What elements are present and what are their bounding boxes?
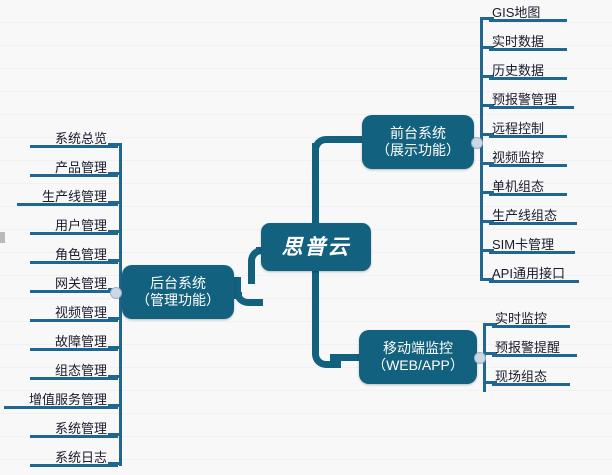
branch-node-front-system[interactable]: 前台系统 （展示功能） <box>362 115 474 169</box>
mindmap-canvas: 思普云 前台系统 （展示功能） 后台系统 （管理功能） 移动端监控 （WEB/A… <box>0 0 612 475</box>
leaf-label[interactable]: 故障管理 <box>27 331 107 350</box>
leaf-label[interactable]: 产品管理 <box>27 157 107 176</box>
leaf-label[interactable]: 增值服务管理 <box>1 389 107 408</box>
leaf-label[interactable]: 系统管理 <box>27 418 107 437</box>
leaf-label[interactable]: 组态管理 <box>27 360 107 379</box>
leaf-label[interactable]: 实时监控 <box>495 308 547 327</box>
leaf-label[interactable]: 用户管理 <box>27 215 107 234</box>
branch-title-line2: （展示功能） <box>376 142 460 160</box>
connector-center-to-front-horizontal <box>330 136 366 143</box>
branch-title-line2: （管理功能） <box>136 292 220 310</box>
center-node[interactable]: 思普云 <box>261 223 371 271</box>
leaf-label[interactable]: 角色管理 <box>27 244 107 263</box>
leaf-label[interactable]: API通用接口 <box>492 263 565 282</box>
leaf-label[interactable]: 现场组态 <box>495 366 547 385</box>
front-branch-spine <box>480 17 483 280</box>
connector-knob-back <box>110 287 122 299</box>
leaf-label[interactable]: 系统日志 <box>27 447 107 466</box>
leaf-label[interactable]: 远程控制 <box>492 118 544 137</box>
leaf-label[interactable]: SIM卡管理 <box>492 234 554 253</box>
center-node-label: 思普云 <box>282 234 351 260</box>
leaf-label[interactable]: 实时数据 <box>492 31 544 50</box>
leaf-label[interactable]: 视频监控 <box>492 147 544 166</box>
branch-node-back-system[interactable]: 后台系统 （管理功能） <box>122 265 234 319</box>
leaf-label[interactable]: 系统总览 <box>27 128 107 147</box>
connector-knob-front <box>471 137 483 149</box>
branch-title-line1: 后台系统 <box>150 275 206 293</box>
leaf-label[interactable]: 预报警提醒 <box>495 337 560 356</box>
branch-title-line1: 移动端监控 <box>383 340 453 358</box>
leaf-label[interactable]: GIS地图 <box>492 2 540 21</box>
branch-node-mobile-monitoring[interactable]: 移动端监控 （WEB/APP） <box>359 330 477 384</box>
leaf-label[interactable]: 单机组态 <box>492 176 544 195</box>
leaf-label[interactable]: 生产线管理 <box>14 186 107 205</box>
leaf-label[interactable]: 历史数据 <box>492 60 544 79</box>
branch-title-line1: 前台系统 <box>390 125 446 143</box>
leaf-label[interactable]: 网关管理 <box>27 273 107 292</box>
edge-artifact <box>0 232 5 243</box>
connector-knob-mobile <box>474 352 486 364</box>
leaf-label[interactable]: 预报警管理 <box>492 89 557 108</box>
branch-title-line2: （WEB/APP） <box>372 357 464 375</box>
connector-center-to-mobile-horizontal <box>330 354 362 361</box>
leaf-label[interactable]: 视频管理 <box>27 302 107 321</box>
leaf-label[interactable]: 生产线组态 <box>492 205 557 224</box>
